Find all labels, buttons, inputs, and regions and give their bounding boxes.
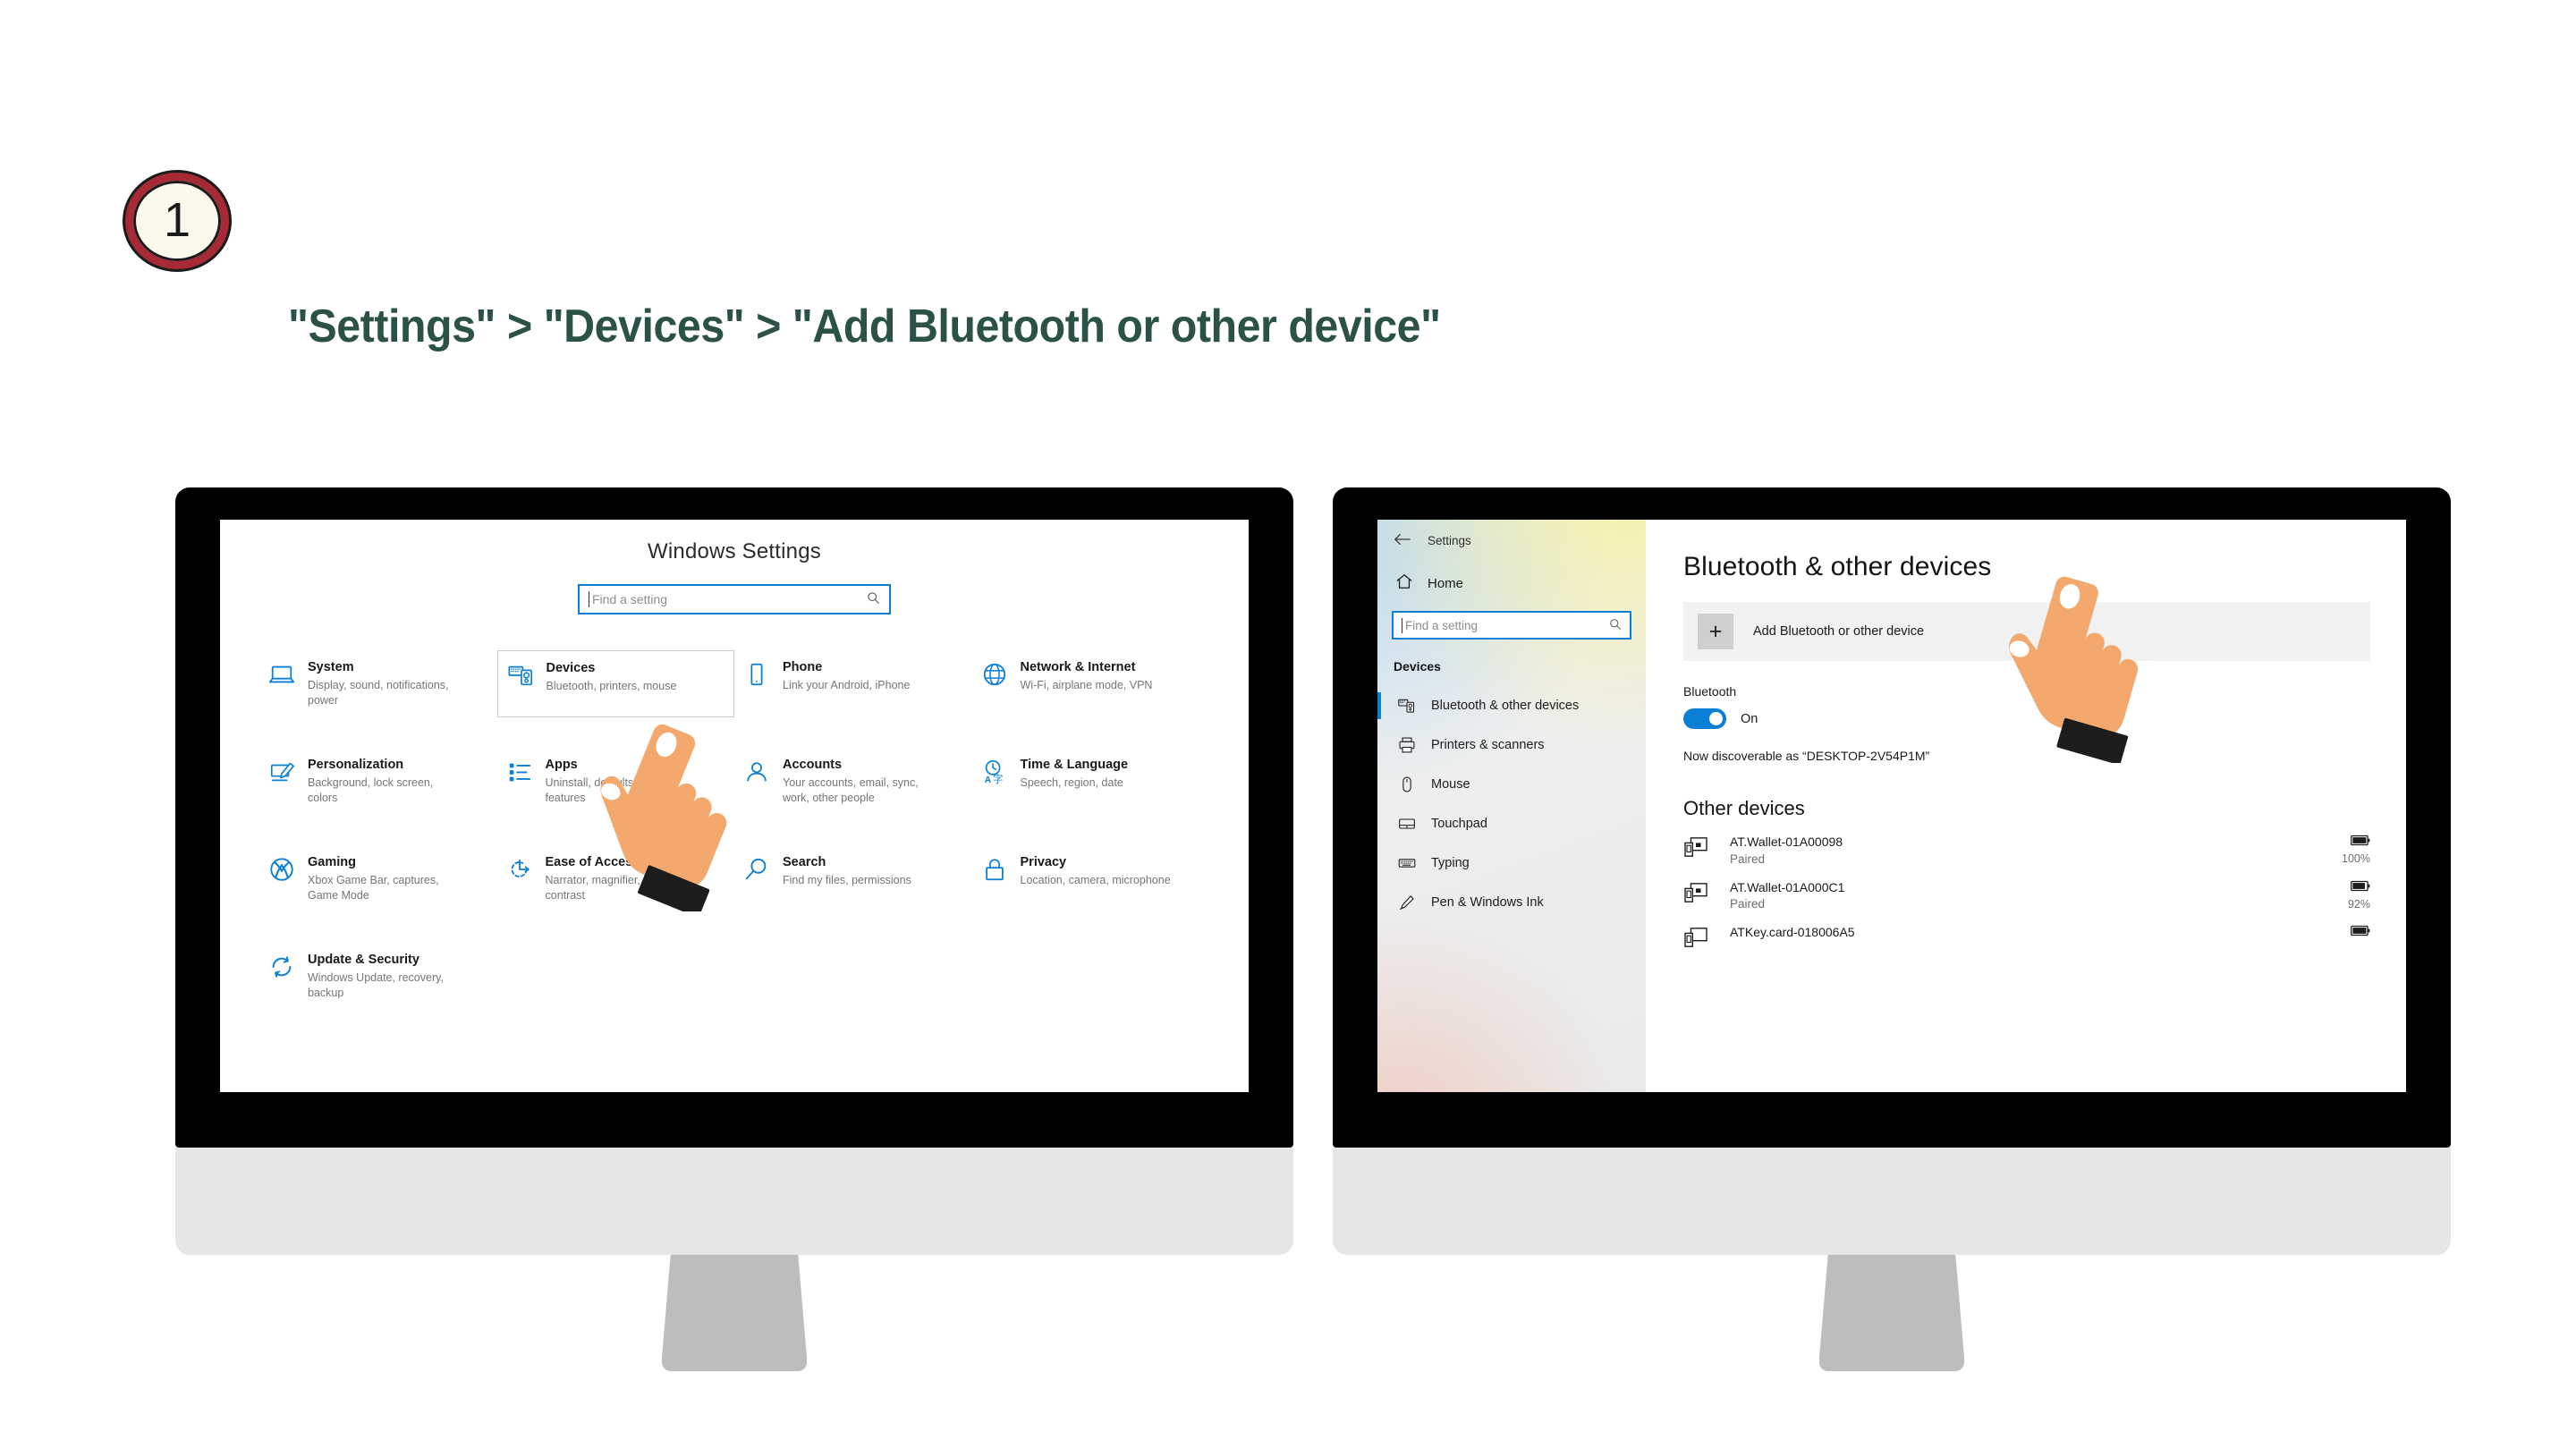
tile-desc: Your accounts, email, sync, work, other … <box>783 775 939 806</box>
battery-icon <box>2351 925 2370 940</box>
step-number-badge: 1 <box>125 173 229 269</box>
brush-icon <box>267 757 297 787</box>
paired-device-icon <box>1683 925 1712 953</box>
svg-text:A: A <box>984 775 991 785</box>
tile-title: Ease of Access <box>546 855 702 870</box>
device-status: Paired <box>1730 897 2304 911</box>
settings-tile-search[interactable]: Search Find my files, permissions <box>734 845 972 912</box>
list-icon <box>504 757 535 787</box>
settings-tile-ease-of-access[interactable]: Ease of Access Narrator, magnifier, high… <box>497 845 735 912</box>
battery-icon <box>2351 880 2370 895</box>
bluetooth-toggle-state: On <box>1741 712 1758 726</box>
tile-title: Network & Internet <box>1021 660 1153 675</box>
tile-title: Privacy <box>1021 855 1171 870</box>
text-caret <box>1402 618 1402 633</box>
tile-title: Gaming <box>308 855 464 870</box>
sidebar-home-label: Home <box>1428 576 1463 591</box>
step-number-value: 1 <box>164 196 191 244</box>
settings-tile-personalization[interactable]: Personalization Background, lock screen,… <box>259 748 497 815</box>
devices-icon <box>505 660 536 691</box>
tile-title: Phone <box>783 660 910 675</box>
sidebar-nav-label: Mouse <box>1431 777 1470 792</box>
search-icon <box>867 591 880 608</box>
right-monitor: Settings Home Find a setting <box>1333 487 2451 1371</box>
sidebar-item-mouse[interactable]: Mouse <box>1377 765 1646 804</box>
sidebar-group-label: Devices <box>1377 640 1646 674</box>
settings-tile-network[interactable]: Network & Internet Wi-Fi, airplane mode,… <box>972 650 1210 717</box>
tile-desc: Windows Update, recovery, backup <box>308 970 464 1001</box>
lock-icon <box>979 854 1010 885</box>
keyboard-icon <box>1397 854 1417 872</box>
accounts-icon <box>741 757 772 787</box>
tile-title: Accounts <box>783 758 939 773</box>
discoverable-status-text: Now discoverable as “DESKTOP-2V54P1M” <box>1683 749 2370 763</box>
sidebar-item-home[interactable]: Home <box>1377 549 1646 595</box>
settings-sidebar: Settings Home Find a setting <box>1377 520 1646 1092</box>
left-monitor-chin <box>175 1148 1293 1255</box>
tile-title: System <box>308 660 464 675</box>
right-monitor-stand <box>1819 1255 1964 1371</box>
devices-icon <box>1397 697 1417 715</box>
bluetooth-toggle-row: On <box>1683 708 2370 729</box>
tile-title: Update & Security <box>308 953 464 968</box>
battery-icon <box>2351 835 2370 850</box>
bluetooth-toggle[interactable] <box>1683 708 1726 729</box>
device-list-item[interactable]: ATKey.card-018006A5 <box>1683 925 2370 953</box>
search-circle-icon <box>741 854 772 885</box>
page-title: Bluetooth & other devices <box>1683 552 2370 582</box>
home-icon <box>1395 572 1413 595</box>
time-language-icon: A字 <box>979 757 1010 787</box>
tile-desc: Background, lock screen, colors <box>308 775 464 806</box>
settings-tile-grid: System Display, sound, notifications, po… <box>259 650 1209 1010</box>
sidebar-search-placeholder: Find a setting <box>1405 619 1609 632</box>
printer-icon <box>1397 736 1417 754</box>
left-monitor-bezel: Windows Settings Find a setting <box>175 487 1293 1148</box>
device-battery-percent: 100% <box>2322 852 2370 865</box>
bluetooth-section-label: Bluetooth <box>1683 684 2370 699</box>
device-list-item[interactable]: AT.Wallet-01A000C1 Paired 92% <box>1683 880 2370 911</box>
ease-of-access-icon <box>504 854 535 885</box>
device-name: AT.Wallet-01A00098 <box>1730 835 2304 851</box>
settings-tile-apps[interactable]: Apps Uninstall, defaults, optional featu… <box>497 748 735 815</box>
left-monitor-stand <box>662 1255 807 1371</box>
sidebar-nav-label: Bluetooth & other devices <box>1431 699 1579 713</box>
settings-tile-time-language[interactable]: A字 Time & Language Speech, region, date <box>972 748 1210 815</box>
left-monitor-screen: Windows Settings Find a setting <box>220 520 1249 1092</box>
sidebar-nav-label: Touchpad <box>1431 817 1487 831</box>
tile-desc: Find my files, permissions <box>783 873 911 888</box>
settings-app-title: Settings <box>1428 534 1471 547</box>
tile-desc: Location, camera, microphone <box>1021 873 1171 888</box>
sidebar-nav-label: Pen & Windows Ink <box>1431 895 1544 910</box>
plus-icon: + <box>1698 614 1733 649</box>
windows-settings-page: Windows Settings Find a setting <box>220 520 1249 1092</box>
sidebar-nav-label: Printers & scanners <box>1431 738 1545 752</box>
toggle-knob <box>1709 712 1723 725</box>
xbox-icon <box>267 854 297 885</box>
right-monitor-bezel: Settings Home Find a setting <box>1333 487 2451 1148</box>
device-list-item[interactable]: AT.Wallet-01A00098 Paired 100% <box>1683 835 2370 866</box>
tile-desc: Narrator, magnifier, high contrast <box>546 873 702 903</box>
tile-desc: Wi-Fi, airplane mode, VPN <box>1021 678 1153 693</box>
sidebar-item-bluetooth-other-devices[interactable]: Bluetooth & other devices <box>1377 686 1646 725</box>
tile-desc: Speech, region, date <box>1021 775 1129 791</box>
settings-tile-devices[interactable]: Devices Bluetooth, printers, mouse <box>497 650 735 717</box>
device-battery-percent: 92% <box>2322 898 2370 911</box>
other-devices-heading: Other devices <box>1683 797 2370 820</box>
globe-icon <box>979 659 1010 690</box>
pen-icon <box>1397 894 1417 911</box>
instruction-heading: "Settings" > "Devices" > "Add Bluetooth … <box>288 300 1441 353</box>
settings-tile-update-security[interactable]: Update & Security Windows Update, recove… <box>259 943 497 1010</box>
device-name: ATKey.card-018006A5 <box>1730 925 2304 941</box>
settings-search-input[interactable]: Find a setting <box>578 584 891 614</box>
tile-desc: Link your Android, iPhone <box>783 678 910 693</box>
mouse-icon <box>1397 775 1417 793</box>
tile-title: Apps <box>546 758 702 773</box>
device-name: AT.Wallet-01A000C1 <box>1730 880 2304 896</box>
right-monitor-screen: Settings Home Find a setting <box>1377 520 2406 1092</box>
text-caret <box>589 591 589 607</box>
left-monitor: Windows Settings Find a setting <box>175 487 1293 1371</box>
settings-tile-privacy[interactable]: Privacy Location, camera, microphone <box>972 845 1210 912</box>
refresh-icon <box>267 952 297 982</box>
sidebar-nav-label: Typing <box>1431 856 1470 870</box>
sidebar-topbar: Settings <box>1377 520 1646 549</box>
paired-device-icon <box>1683 880 1712 908</box>
poster-canvas: 1 "Settings" > "Devices" > "Add Bluetoot… <box>0 0 2576 1449</box>
add-device-label: Add Bluetooth or other device <box>1753 624 1924 639</box>
right-monitor-chin <box>1333 1148 2451 1255</box>
bluetooth-settings-page: Settings Home Find a setting <box>1377 520 2406 1092</box>
tile-desc: Uninstall, defaults, optional features <box>546 775 702 806</box>
settings-tile-system[interactable]: System Display, sound, notifications, po… <box>259 650 497 717</box>
back-arrow-icon[interactable] <box>1394 532 1411 549</box>
settings-search-placeholder: Find a setting <box>592 592 867 606</box>
tile-desc: Display, sound, notifications, power <box>308 678 464 708</box>
settings-tile-accounts[interactable]: Accounts Your accounts, email, sync, wor… <box>734 748 972 815</box>
settings-tile-phone[interactable]: Phone Link your Android, iPhone <box>734 650 972 717</box>
tile-title: Search <box>783 855 911 870</box>
tile-title: Personalization <box>308 758 464 773</box>
windows-settings-title: Windows Settings <box>220 520 1249 564</box>
tile-title: Devices <box>547 661 677 676</box>
touchpad-icon <box>1397 815 1417 833</box>
sidebar-item-pen-windows-ink[interactable]: Pen & Windows Ink <box>1377 883 1646 922</box>
svg-text:字: 字 <box>993 773 1003 785</box>
sidebar-item-printers-scanners[interactable]: Printers & scanners <box>1377 725 1646 765</box>
add-bluetooth-device-button[interactable]: + Add Bluetooth or other device <box>1683 602 2370 661</box>
bluetooth-main-panel: Bluetooth & other devices + Add Bluetoot… <box>1646 520 2406 1092</box>
tile-desc: Xbox Game Bar, captures, Game Mode <box>308 873 464 903</box>
sidebar-item-touchpad[interactable]: Touchpad <box>1377 804 1646 843</box>
sidebar-item-typing[interactable]: Typing <box>1377 843 1646 883</box>
search-icon <box>1609 618 1622 633</box>
sidebar-nav: Bluetooth & other devices Printers & sca… <box>1377 686 1646 922</box>
tile-desc: Bluetooth, printers, mouse <box>547 679 677 694</box>
settings-tile-gaming[interactable]: Gaming Xbox Game Bar, captures, Game Mod… <box>259 845 497 912</box>
phone-icon <box>741 659 772 690</box>
tile-title: Time & Language <box>1021 758 1129 773</box>
paired-device-icon <box>1683 835 1712 862</box>
device-status: Paired <box>1730 852 2304 866</box>
sidebar-search-input[interactable]: Find a setting <box>1392 611 1631 640</box>
monitor-icon <box>267 659 297 690</box>
